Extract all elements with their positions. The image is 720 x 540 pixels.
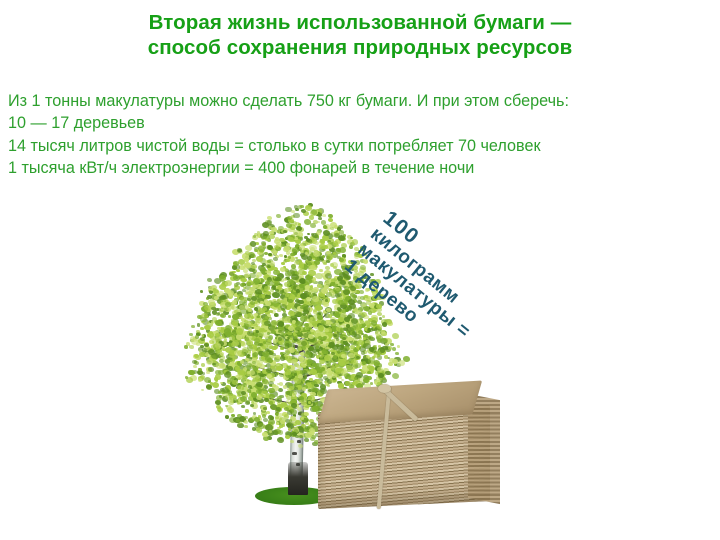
leaf-dot (326, 292, 333, 298)
leaf-dot (268, 415, 273, 420)
leaf-dot (298, 232, 304, 237)
leaf-dot (193, 365, 197, 368)
leaf-dot (263, 341, 267, 344)
leaf-dot (201, 363, 205, 367)
leaf-dot (305, 278, 312, 284)
leaf-dot (324, 285, 329, 289)
leaf-dot (350, 286, 356, 291)
leaf-dot (232, 321, 238, 326)
leaf-dot (269, 401, 273, 404)
leaf-dot (307, 362, 311, 366)
leaf-dot (304, 438, 308, 442)
leaf-dot (278, 321, 285, 327)
leaf-dot (267, 344, 273, 349)
leaf-dot (372, 356, 375, 359)
leaf-dot (272, 292, 279, 298)
leaf-dot (398, 360, 405, 366)
leaf-dot (296, 331, 301, 335)
leaf-dot (274, 245, 279, 249)
leaf-dot (298, 444, 303, 448)
leaf-dot (197, 323, 201, 326)
leaf-dot (236, 328, 244, 334)
leaf-dot (338, 317, 343, 322)
leaf-dot (284, 255, 287, 258)
leaf-dot (254, 233, 258, 237)
leaf-dot (379, 317, 383, 320)
leaf-dot (300, 293, 307, 299)
leaf-dot (314, 241, 319, 246)
leaf-dot (382, 322, 388, 327)
leaf-dot (368, 311, 372, 315)
leaf-dot (333, 252, 336, 255)
leaf-dot (285, 350, 290, 355)
leaf-dot (207, 332, 214, 338)
fact-line-2: 10 — 17 деревьев (8, 112, 716, 134)
leaf-dot (361, 351, 365, 355)
leaf-dot (292, 391, 297, 395)
leaf-dot (220, 295, 225, 300)
leaf-dot (232, 300, 237, 305)
leaf-dot (256, 382, 263, 388)
leaf-dot (334, 334, 339, 339)
leaf-dot (200, 317, 207, 323)
leaf-dot (204, 343, 208, 347)
leaf-dot (310, 369, 317, 375)
leaf-dot (216, 405, 221, 409)
leaf-dot (377, 324, 383, 329)
leaf-dot (287, 332, 291, 336)
leaf-dot (234, 283, 239, 287)
leaf-dot (285, 372, 288, 375)
leaf-dot (267, 220, 272, 225)
leaf-dot (276, 214, 281, 218)
fact-line-1: Из 1 тонны макулатуры можно сделать 750 … (8, 90, 716, 112)
leaf-dot (323, 225, 327, 229)
leaf-dot (309, 346, 312, 349)
leaf-dot (278, 430, 284, 435)
paper-stack-illustration (318, 385, 503, 515)
leaf-dot (224, 328, 231, 334)
leaf-dot (267, 374, 272, 379)
leaf-dot (304, 412, 309, 416)
leaf-dot (236, 334, 243, 340)
leaf-dot (367, 328, 373, 333)
leaf-dot (262, 414, 266, 418)
leaf-dot (262, 263, 266, 266)
tree-trunk-base (288, 462, 308, 495)
leaf-dot (333, 241, 339, 246)
leaf-dot (232, 395, 237, 399)
leaf-dot (250, 404, 254, 407)
leaf-dot (272, 384, 276, 387)
leaf-dot (252, 353, 256, 356)
leaf-dot (339, 230, 345, 235)
leaf-dot (211, 344, 219, 350)
leaf-dot (211, 307, 215, 311)
leaf-dot (367, 365, 371, 368)
leaf-dot (275, 416, 279, 419)
leaf-dot (318, 325, 325, 331)
leaf-dot (392, 347, 397, 351)
leaf-dot (240, 360, 244, 364)
leaf-dot (330, 227, 334, 230)
leaf-dot (297, 340, 301, 344)
leaf-dot (344, 286, 349, 290)
twine-knot (378, 384, 391, 393)
leaf-dot (237, 248, 243, 253)
bark-mark (292, 452, 297, 455)
leaf-dot (250, 301, 255, 305)
leaf-dot (322, 214, 326, 217)
leaf-dot (247, 331, 254, 337)
leaf-dot (276, 422, 279, 425)
leaf-dot (328, 214, 333, 218)
leaf-dot (232, 314, 239, 320)
leaf-dot (288, 311, 294, 316)
leaf-dot (208, 299, 215, 305)
leaf-dot (220, 308, 224, 311)
leaf-dot (285, 356, 292, 362)
leaf-dot (198, 378, 202, 382)
leaf-dot (274, 313, 279, 317)
fact-line-4: 1 тысяча кВт/ч электроэнергии = 400 фона… (8, 157, 716, 179)
leaf-dot (263, 418, 268, 422)
leaf-dot (256, 272, 262, 277)
leaf-dot (309, 265, 316, 271)
leaf-dot (225, 347, 232, 353)
leaf-dot (268, 388, 275, 394)
leaf-dot (247, 345, 254, 351)
leaf-dot (200, 290, 203, 293)
leaf-dot (303, 306, 310, 312)
leaf-dot (237, 385, 244, 391)
leaf-dot (323, 230, 330, 236)
leaf-dot (258, 423, 265, 429)
leaf-dot (245, 337, 249, 340)
leaf-dot (258, 246, 265, 252)
leaf-dot (319, 347, 323, 351)
leaf-dot (358, 330, 363, 334)
leaf-dot (285, 271, 291, 276)
leaf-dot (200, 337, 205, 341)
leaf-dot (312, 296, 318, 301)
leaf-dot (189, 345, 193, 349)
leaf-dot (207, 278, 212, 283)
leaf-dot (285, 391, 290, 396)
leaf-dot (204, 325, 210, 330)
leaf-dot (344, 373, 351, 379)
leaf-dot (236, 419, 239, 422)
leaf-dot (346, 365, 352, 370)
leaf-dot (380, 348, 386, 353)
leaf-dot (276, 407, 281, 411)
leaf-dot (283, 278, 287, 281)
leaf-dot (305, 252, 308, 255)
leaf-dot (333, 355, 337, 359)
leaf-dot (220, 352, 225, 356)
bark-mark (297, 440, 301, 443)
leaf-dot (321, 320, 326, 325)
leaf-dot (343, 289, 350, 295)
leaf-dot (251, 392, 257, 397)
leaf-dot (285, 435, 290, 439)
leaf-dot (277, 437, 284, 443)
leaf-dot (335, 288, 341, 293)
leaf-dot (245, 409, 249, 413)
leaf-dot (191, 325, 195, 329)
leaf-dot (300, 316, 307, 322)
leaf-dot (299, 435, 303, 438)
leaf-dot (338, 360, 345, 366)
leaf-dot (352, 297, 356, 300)
leaf-dot (263, 407, 267, 410)
leaf-dot (339, 247, 346, 253)
leaf-dot (240, 297, 246, 302)
leaf-dot (366, 355, 370, 358)
leaf-dot (395, 352, 399, 356)
leaf-dot (273, 270, 279, 275)
leaf-dot (286, 223, 292, 228)
leaf-dot (307, 233, 310, 236)
leaf-dot (286, 243, 289, 246)
leaf-dot (228, 315, 231, 318)
leaf-dot (290, 294, 295, 298)
leaf-dot (338, 300, 344, 305)
leaf-dot (256, 256, 262, 262)
leaf-dot (319, 269, 323, 272)
leaf-dot (267, 245, 273, 250)
leaf-dot (192, 360, 197, 364)
leaf-dot (377, 367, 384, 373)
leaf-dot (233, 275, 240, 281)
leaf-dot (305, 205, 311, 211)
leaf-dot (244, 425, 248, 428)
leaf-dot (294, 252, 297, 255)
leaf-dot (225, 281, 230, 286)
leaf-dot (315, 305, 322, 311)
leaf-dot (321, 367, 325, 370)
leaf-dot (241, 405, 245, 408)
leaf-dot (281, 402, 288, 408)
leaf-dot (248, 385, 252, 389)
leaf-dot (215, 320, 222, 326)
leaf-dot (280, 420, 285, 425)
leaf-dot (232, 380, 238, 385)
leaf-dot (324, 355, 331, 361)
leaf-dot (313, 251, 320, 257)
title-line-2: способ сохранения природных ресурсов (0, 35, 720, 60)
page-title: Вторая жизнь использованной бумаги — спо… (0, 10, 720, 60)
leaf-dot (356, 372, 363, 378)
leaf-dot (284, 282, 290, 287)
leaf-dot (219, 363, 226, 369)
leaf-dot (362, 361, 367, 365)
leaf-dot (392, 373, 399, 379)
leaf-dot (206, 371, 210, 374)
leaf-dot (263, 436, 269, 441)
leaf-dot (397, 345, 400, 348)
leaf-dot (299, 287, 304, 291)
leaf-dot (277, 309, 281, 312)
leaf-dot (234, 350, 241, 356)
leaf-dot (233, 261, 239, 266)
leaf-dot (202, 348, 207, 352)
leaf-dot (382, 315, 386, 318)
leaf-dot (251, 262, 255, 265)
leaf-dot (320, 239, 326, 244)
leaf-dot (288, 299, 293, 303)
leaf-dot (199, 352, 205, 357)
leaf-dot (244, 420, 248, 424)
leaf-dot (310, 223, 316, 228)
leaf-dot (271, 227, 277, 232)
leaf-dot (213, 288, 216, 291)
leaf-dot (204, 305, 211, 311)
leaf-dot (201, 389, 204, 392)
leaf-dot (339, 258, 344, 262)
leaf-dot (302, 387, 306, 391)
leaf-dot (296, 312, 302, 317)
leaf-dot (341, 354, 346, 358)
leaf-dot (302, 271, 307, 275)
leaf-dot (318, 336, 323, 340)
leaf-dot (228, 292, 233, 296)
leaf-dot (312, 349, 317, 353)
leaf-dot (287, 410, 292, 415)
leaf-dot (282, 424, 285, 427)
leaf-dot (338, 235, 345, 241)
leaf-dot (293, 213, 300, 219)
leaf-dot (235, 366, 241, 371)
leaf-dot (280, 356, 286, 361)
leaf-dot (344, 317, 350, 322)
leaf-dot (362, 304, 366, 307)
leaf-dot (224, 372, 231, 378)
leaf-dot (287, 366, 291, 369)
leaf-dot (200, 327, 204, 330)
leaf-dot (245, 358, 249, 361)
leaf-dot (250, 241, 256, 247)
leaf-dot (267, 332, 271, 335)
leaf-dot (354, 377, 357, 380)
leaf-dot (288, 256, 292, 259)
leaf-dot (381, 332, 387, 337)
leaf-dot (378, 373, 385, 379)
leaf-dot (269, 310, 273, 313)
leaf-dot (301, 399, 307, 404)
leaf-dot (288, 326, 294, 331)
leaf-dot (294, 373, 298, 376)
leaf-dot (277, 396, 282, 400)
leaf-dot (268, 226, 272, 229)
leaf-dot (267, 358, 273, 363)
leaf-dot (214, 296, 219, 300)
title-line-1: Вторая жизнь использованной бумаги — (0, 10, 720, 35)
leaf-dot (258, 343, 263, 347)
leaf-dot (346, 324, 350, 328)
leaf-dot (244, 258, 248, 262)
leaf-dot (306, 327, 310, 331)
leaf-dot (310, 329, 313, 332)
leaf-dot (267, 216, 272, 220)
bark-mark (296, 463, 300, 466)
leaf-dot (392, 359, 399, 365)
leaf-dot (334, 308, 337, 311)
leaf-dot (317, 221, 320, 224)
leaf-dot (265, 295, 269, 298)
leaf-dot (279, 254, 283, 257)
leaf-dot (327, 314, 331, 317)
leaf-dot (251, 254, 256, 258)
leaf-dot (264, 321, 271, 327)
leaf-dot (211, 353, 218, 359)
leaf-dot (225, 415, 229, 419)
leaf-dot (248, 294, 252, 298)
leaf-dot (332, 345, 337, 349)
leaf-dot (254, 313, 258, 316)
leaf-dot (273, 251, 277, 255)
leaf-dot (241, 278, 246, 283)
leaf-dot (232, 356, 237, 360)
leaf-dot (330, 263, 334, 266)
infographic-page: Вторая жизнь использованной бумаги — спо… (0, 0, 720, 540)
leaf-dot (331, 373, 337, 378)
leaf-dot (278, 388, 283, 392)
leaf-dot (295, 208, 299, 212)
leaf-dot (283, 230, 287, 233)
leaf-dot (385, 371, 391, 376)
leaf-dot (202, 372, 205, 375)
leaf-dot (275, 237, 280, 241)
leaf-dot (292, 432, 297, 436)
leaf-dot (326, 256, 329, 259)
leaf-dot (271, 320, 277, 325)
leaf-dot (340, 328, 344, 331)
leaf-dot (390, 343, 394, 346)
leaf-dot (253, 367, 258, 371)
leaf-dot (392, 333, 399, 339)
leaf-dot (307, 256, 312, 261)
leaf-dot (261, 241, 266, 246)
leaf-dot (264, 286, 270, 291)
leaf-dot (281, 244, 285, 248)
leaf-dot (290, 440, 294, 443)
facts-list: Из 1 тонны макулатуры можно сделать 750 … (8, 90, 716, 180)
fact-line-3: 14 тысяч литров чистой воды = столько в … (8, 135, 716, 157)
leaf-dot (278, 330, 282, 334)
leaf-dot (269, 430, 272, 433)
leaf-dot (363, 343, 370, 349)
leaf-dot (295, 327, 301, 332)
leaf-dot (374, 345, 377, 348)
leaf-dot (212, 382, 219, 388)
leaf-dot (272, 301, 279, 307)
leaf-dot (265, 271, 268, 274)
leaf-dot (374, 328, 377, 331)
leaf-dot (286, 259, 289, 262)
leaf-dot (280, 293, 283, 296)
leaf-dot (236, 269, 240, 272)
leaf-dot (280, 267, 285, 271)
leaf-dot (291, 403, 297, 408)
leaf-dot (352, 239, 359, 245)
leaf-dot (259, 364, 265, 369)
leaf-dot (308, 270, 315, 276)
leaf-dot (289, 339, 294, 343)
leaf-dot (248, 308, 252, 312)
leaf-dot (276, 366, 283, 372)
leaf-dot (215, 333, 220, 338)
